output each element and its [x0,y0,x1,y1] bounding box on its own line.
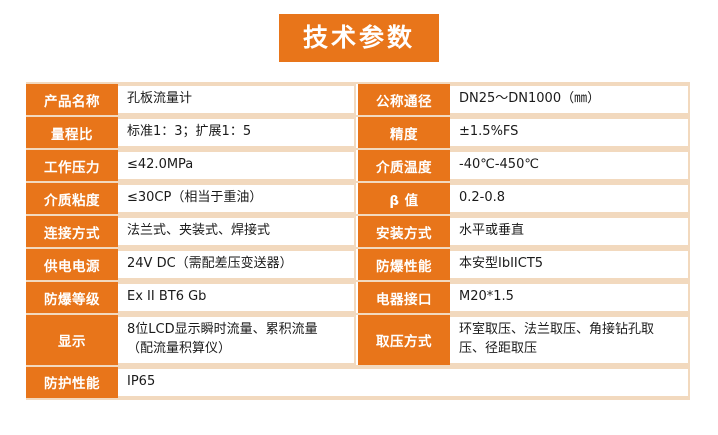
row-half-right: 介质温度 -40℃-450℃ [358,150,690,181]
row-half-left: 防爆等级 Ex II BT6 Gb [26,282,358,313]
parameters-table: 产品名称 孔板流量计 公称通径 DN25～DN1000（㎜） 量程比 标准1：3… [26,82,690,400]
parameter-label: 介质温度 [358,150,450,181]
row-half-right: 公称通径 DN25～DN1000（㎜） [358,84,690,115]
parameter-value: IP65 [118,367,690,398]
row-half-left: 连接方式 法兰式、夹装式、焊接式 [26,216,358,247]
row-half-left: 产品名称 孔板流量计 [26,84,358,115]
parameter-label: 量程比 [26,117,118,148]
parameter-label: 精度 [358,117,450,148]
parameter-label: 连接方式 [26,216,118,247]
table-row: 介质粘度 ≤30CP（相当于重油） β 值 0.2-0.8 [26,183,690,216]
parameter-value: 0.2-0.8 [450,183,690,214]
parameter-value: 环室取压、法兰取压、角接钻孔取 压、径距取压 [450,315,690,365]
parameter-label: 安装方式 [358,216,450,247]
parameter-value: M20*1.5 [450,282,690,313]
parameter-label: 防爆性能 [358,249,450,280]
row-half-right: β 值 0.2-0.8 [358,183,690,214]
parameter-value: 8位LCD显示瞬时流量、累积流量 （配流量积算仪） [118,315,356,365]
parameter-value: 法兰式、夹装式、焊接式 [118,216,356,247]
parameter-label: 产品名称 [26,84,118,115]
parameter-value: -40℃-450℃ [450,150,690,181]
parameter-label: 显示 [26,315,118,365]
parameter-label: 供电电源 [26,249,118,280]
parameter-label: β 值 [358,183,450,214]
table-row: 防爆等级 Ex II BT6 Gb 电器接口 M20*1.5 [26,282,690,315]
parameter-value: DN25～DN1000（㎜） [450,84,690,115]
parameter-value: 本安型IbIICT5 [450,249,690,280]
row-half-left: 量程比 标准1：3；扩展1：5 [26,117,358,148]
parameter-label: 电器接口 [358,282,450,313]
table-row: 量程比 标准1：3；扩展1：5 精度 ±1.5%FS [26,117,690,150]
row-half-right: 精度 ±1.5%FS [358,117,690,148]
row-half-left: 介质粘度 ≤30CP（相当于重油） [26,183,358,214]
table-row: 防护性能 IP65 [26,367,690,400]
parameter-value: ≤30CP（相当于重油） [118,183,356,214]
row-half-right: 取压方式 环室取压、法兰取压、角接钻孔取 压、径距取压 [358,315,690,365]
row-half-right: 防爆性能 本安型IbIICT5 [358,249,690,280]
parameter-label: 工作压力 [26,150,118,181]
parameter-label: 取压方式 [358,315,450,365]
parameter-label: 介质粘度 [26,183,118,214]
table-row: 连接方式 法兰式、夹装式、焊接式 安装方式 水平或垂直 [26,216,690,249]
parameter-value: ±1.5%FS [450,117,690,148]
parameter-label: 公称通径 [358,84,450,115]
row-half-left: 防护性能 IP65 [26,367,690,398]
table-row: 工作压力 ≤42.0MPa 介质温度 -40℃-450℃ [26,150,690,183]
row-half-right: 安装方式 水平或垂直 [358,216,690,247]
parameter-value: 水平或垂直 [450,216,690,247]
row-half-left: 供电电源 24V DC（需配差压变送器） [26,249,358,280]
table-row: 供电电源 24V DC（需配差压变送器） 防爆性能 本安型IbIICT5 [26,249,690,282]
parameter-label: 防爆等级 [26,282,118,313]
title-banner-wrapper: 技术参数 [0,14,718,62]
table-row: 显示 8位LCD显示瞬时流量、累积流量 （配流量积算仪） 取压方式 环室取压、法… [26,315,690,367]
parameter-value: ≤42.0MPa [118,150,356,181]
parameter-value: Ex II BT6 Gb [118,282,356,313]
row-half-left: 工作压力 ≤42.0MPa [26,150,358,181]
row-half-left: 显示 8位LCD显示瞬时流量、累积流量 （配流量积算仪） [26,315,358,365]
technical-parameters-page: 技术参数 产品名称 孔板流量计 公称通径 DN25～DN1000（㎜） 量程比 … [0,0,718,435]
table-row: 产品名称 孔板流量计 公称通径 DN25～DN1000（㎜） [26,84,690,117]
parameter-value: 24V DC（需配差压变送器） [118,249,356,280]
parameter-value: 孔板流量计 [118,84,356,115]
page-title: 技术参数 [279,14,439,62]
row-half-right: 电器接口 M20*1.5 [358,282,690,313]
parameter-label: 防护性能 [26,367,118,398]
parameter-value: 标准1：3；扩展1：5 [118,117,356,148]
